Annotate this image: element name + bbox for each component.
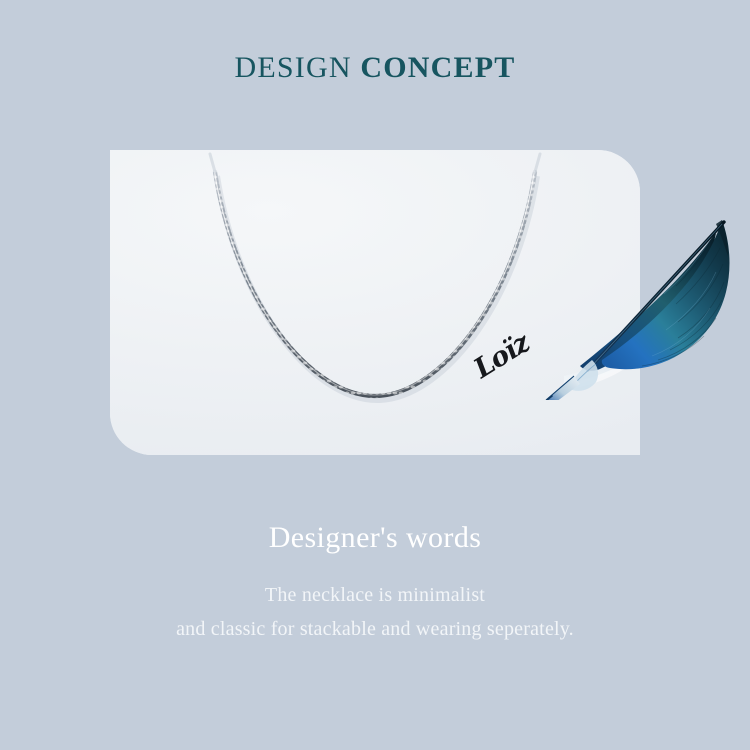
product-image-card: Loïz [110,150,640,455]
designer-words-line-1: The necklace is minimalist [0,578,750,612]
designer-words-heading: Designer's words [0,518,750,558]
designer-words-block: Designer's words The necklace is minimal… [0,518,750,646]
page-title-regular: DESIGN [235,51,352,84]
card-sheen [110,150,640,455]
handwritten-signature: Loïz [469,311,567,393]
designer-words-lines: The necklace is minimalist and classic f… [0,578,750,646]
designer-words-line-2: and classic for stackable and wearing se… [0,612,750,646]
page-title-bold: CONCEPT [360,51,515,84]
feather-barbs [642,234,724,366]
page-title: DESIGN CONCEPT [0,50,750,86]
signature-text: Loïz [469,311,562,386]
design-concept-page: DESIGN CONCEPT [0,0,750,750]
necklace-chain-image [110,150,640,455]
